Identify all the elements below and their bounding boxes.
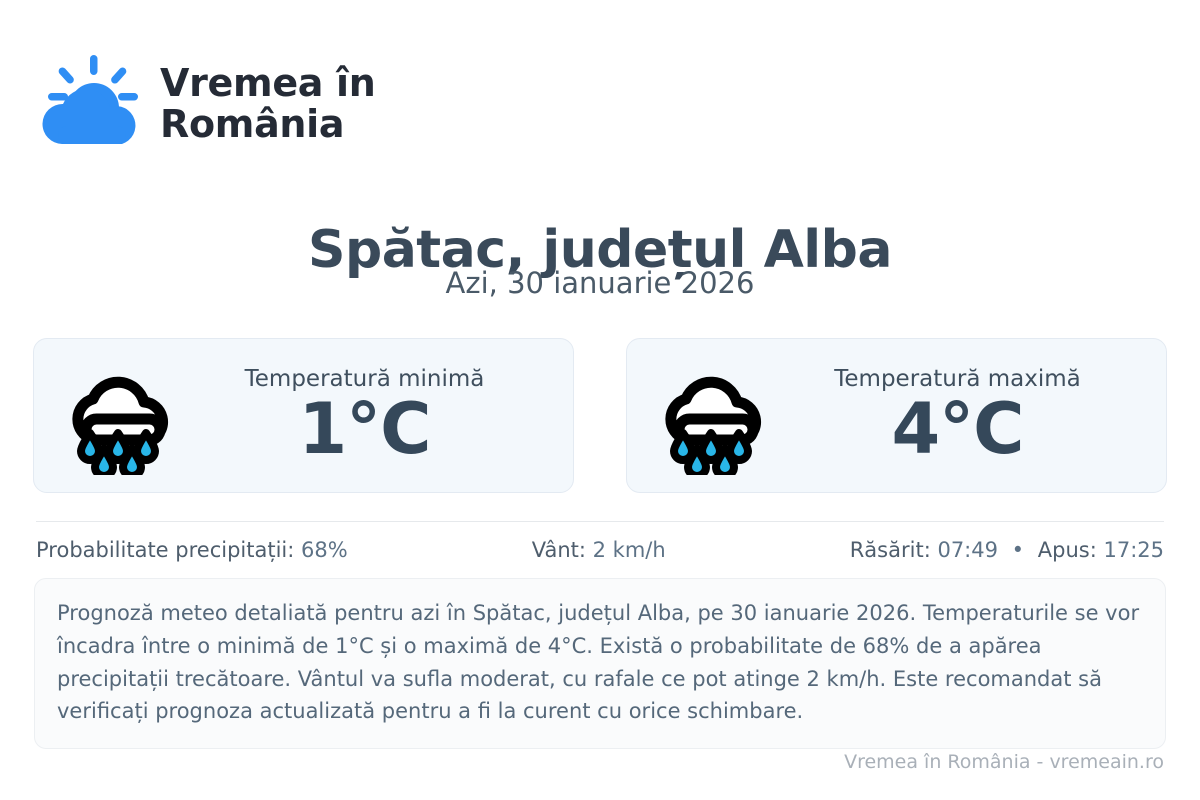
temperature-cards: Temperatură minimă 1°C Temperatură maxim… (33, 338, 1167, 493)
footer-credit: Vremea în România - vremeain.ro (844, 751, 1164, 773)
card-text: Temperatură minimă 1°C (182, 367, 547, 464)
sun-behind-cloud-icon (36, 52, 144, 156)
precipitation-value: 68% (301, 538, 348, 562)
card-value: 4°C (775, 394, 1140, 464)
card-value: 1°C (182, 394, 547, 464)
metric-wind: Vânt: 2 km/h (348, 538, 850, 562)
brand-name: Vremea în România (160, 63, 376, 145)
precipitation-label: Probabilitate precipitații: (36, 538, 294, 562)
rain-cloud-icon (649, 357, 773, 475)
wind-value: 2 km/h (593, 538, 666, 562)
sunset-label: Apus: (1038, 538, 1097, 562)
section-divider (36, 521, 1164, 522)
metric-sun-times: Răsărit: 07:49 • Apus: 17:25 (850, 538, 1164, 562)
separator-dot: • (1005, 538, 1031, 562)
card-temperature-min: Temperatură minimă 1°C (33, 338, 574, 493)
sunrise-value: 07:49 (937, 538, 998, 562)
page-subtitle: Azi, 30 ianuarie 2026 (0, 266, 1200, 300)
site-logo[interactable]: Vremea în România (36, 52, 376, 156)
wind-label: Vânt: (532, 538, 586, 562)
rain-cloud-icon (56, 357, 180, 475)
metric-precipitation: Probabilitate precipitații: 68% (36, 538, 348, 562)
sunset-value: 17:25 (1103, 538, 1164, 562)
weather-page: Vremea în România Spătac, județul Alba A… (0, 0, 1200, 800)
metrics-row: Probabilitate precipitații: 68% Vânt: 2 … (36, 538, 1164, 562)
card-text: Temperatură maximă 4°C (775, 367, 1140, 464)
card-temperature-max: Temperatură maximă 4°C (626, 338, 1167, 493)
sunrise-label: Răsărit: (850, 538, 931, 562)
forecast-description: Prognoză meteo detaliată pentru azi în S… (34, 578, 1166, 749)
